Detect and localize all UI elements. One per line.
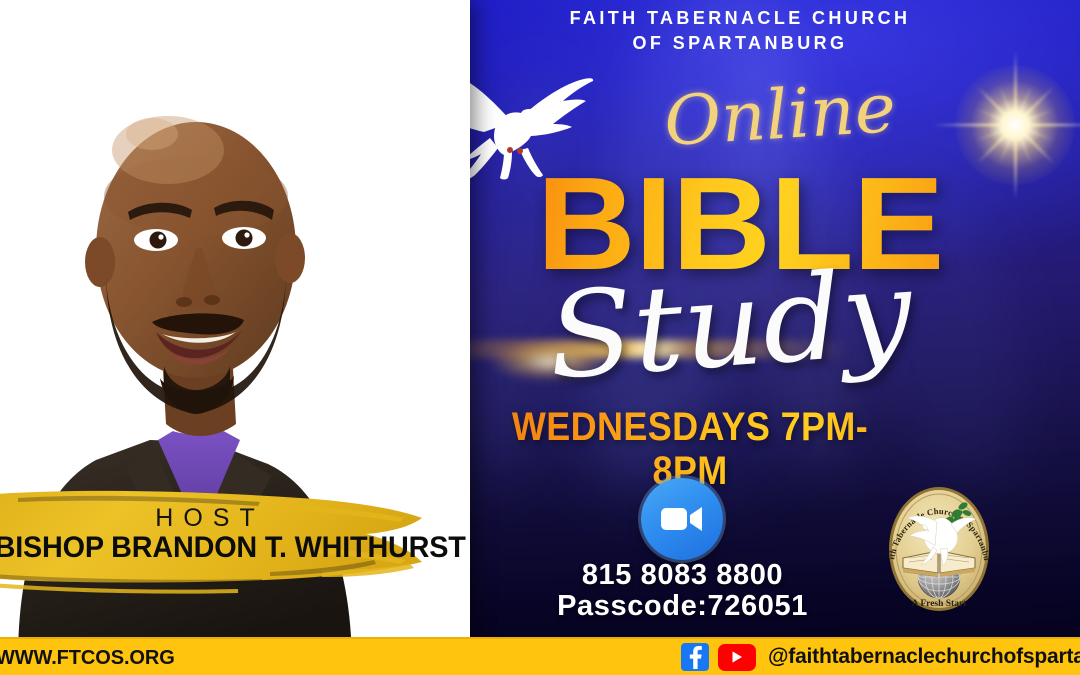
- meeting-passcode: Passcode:726051: [500, 591, 865, 622]
- meeting-id: 815 8083 8800: [500, 560, 865, 591]
- social-handle[interactable]: @faithtabernaclechurchofspartan: [768, 645, 1080, 669]
- host-name: BISHOP BRANDON T. WHITHURST: [0, 531, 407, 565]
- footer-bar: WWW.FTCOS.ORG @faithtabernaclechurchofsp…: [0, 637, 1080, 675]
- page-title: FAITH TABERNACLE CHURCH OF SPARTANBURG: [460, 6, 1020, 56]
- meeting-info: 815 8083 8800 Passcode:726051: [500, 560, 865, 622]
- logo-tagline: A Fresh Start: [912, 599, 968, 609]
- website-link[interactable]: WWW.FTCOS.ORG: [0, 647, 175, 670]
- video-camera-glyph: [660, 505, 704, 533]
- youtube-play-glyph: [730, 650, 744, 664]
- facebook-f-glyph: [689, 646, 702, 669]
- host-label: HOST: [0, 504, 420, 533]
- flyer-canvas: FAITH TABERNACLE CHURCH OF SPARTANBURG O…: [0, 0, 1080, 675]
- title-eyebrow: Online: [635, 71, 924, 160]
- social-links: @faithtabernaclechurchofspartan: [681, 643, 1080, 671]
- zoom-video-icon[interactable]: [641, 478, 723, 560]
- facebook-icon[interactable]: [681, 643, 709, 671]
- youtube-icon[interactable]: [718, 644, 756, 671]
- church-name-line1: FAITH TABERNACLE CHURCH: [460, 6, 1020, 31]
- church-logo: Faith Tabernacle Church of Spartanburg: [877, 478, 1001, 621]
